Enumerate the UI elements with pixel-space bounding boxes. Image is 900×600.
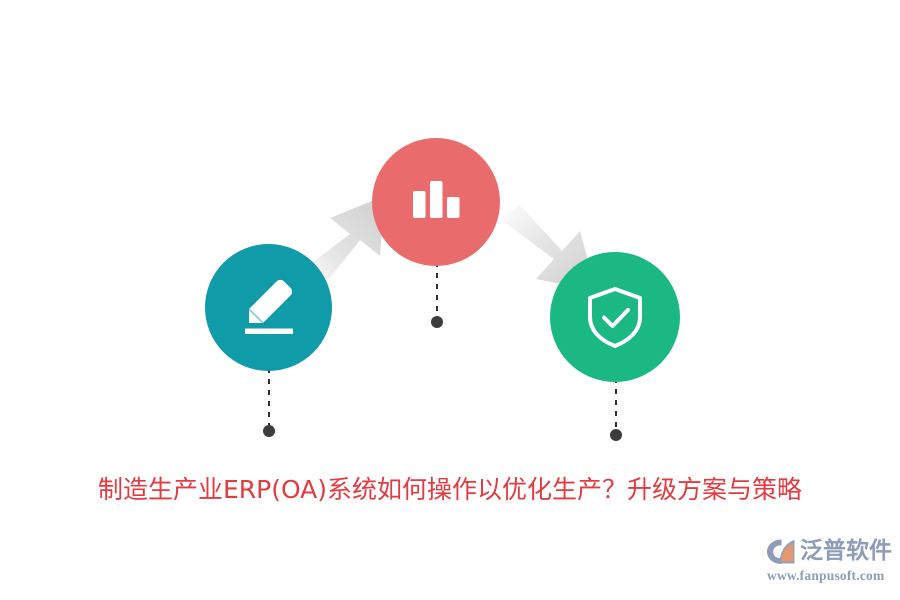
- page-title: 制造生产业ERP(OA)系统如何操作以优化生产？升级方案与策略: [0, 470, 900, 506]
- fanpu-logo-mark-icon: [766, 538, 796, 565]
- shield-check-icon: [580, 282, 650, 352]
- pencil-edit-icon: [234, 273, 304, 343]
- brand-row: 泛普软件: [766, 538, 892, 565]
- infographic-canvas: 制造生产业ERP(OA)系统如何操作以优化生产？升级方案与策略 泛普软件 www…: [0, 0, 900, 600]
- brand-watermark: 泛普软件 www.fanpusoft.com: [766, 538, 892, 590]
- node-edit[interactable]: [205, 244, 332, 371]
- stem-edit: [268, 368, 270, 426]
- stem-dot-shield: [610, 429, 622, 441]
- node-chart[interactable]: [372, 138, 500, 266]
- stem-dot-chart: [431, 316, 443, 328]
- stem-chart: [436, 262, 438, 318]
- stem-dot-edit: [263, 425, 275, 437]
- bar-chart-icon: [404, 170, 468, 234]
- brand-name: 泛普软件: [800, 540, 892, 563]
- stem-shield: [615, 378, 617, 432]
- node-shield[interactable]: [550, 252, 680, 382]
- brand-url: www.fanpusoft.com: [767, 569, 884, 583]
